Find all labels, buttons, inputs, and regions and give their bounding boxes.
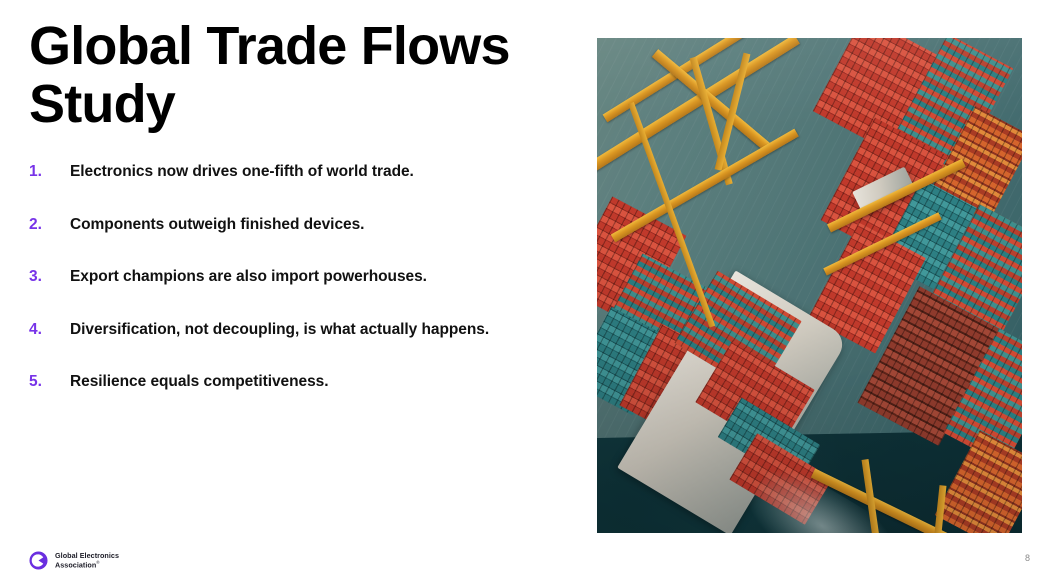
list-item-text: Diversification, not decoupling, is what… [70,318,549,342]
list-item-text: Components outweigh finished devices. [70,213,549,237]
list-item-text: Electronics now drives one-fifth of worl… [70,160,549,184]
list-item: 5. Resilience equals competitiveness. [29,370,549,394]
slide: Global Trade Flows Study 1. Electronics … [0,0,1048,584]
footer-logo: Global ElectronicsAssociation® [29,551,119,570]
container-stack [935,430,1022,533]
list-item-number: 5. [29,370,70,394]
footer-logo-line1: Global Electronics [55,551,119,560]
footer-logo-trademark: ® [96,560,99,565]
list-item: 3. Export champions are also import powe… [29,265,549,289]
page-number: 8 [1025,553,1030,563]
photo-water-base [597,38,1022,533]
list-item: 2. Components outweigh finished devices. [29,213,549,237]
list-item: 4. Diversification, not decoupling, is w… [29,318,549,342]
list-item-text: Resilience equals competitiveness. [70,370,549,394]
list-item-number: 3. [29,265,70,289]
container-port-photo [597,38,1022,533]
footer-logo-text: Global ElectronicsAssociation® [55,551,119,570]
page-title: Global Trade Flows Study [29,18,569,134]
global-electronics-association-logo-icon [29,551,48,570]
list-item-number: 1. [29,160,70,184]
numbered-list: 1. Electronics now drives one-fifth of w… [29,160,549,394]
list-item-number: 2. [29,213,70,237]
footer-logo-line2: Association [55,561,96,570]
list-item-number: 4. [29,318,70,342]
list-item-text: Export champions are also import powerho… [70,265,549,289]
list-item: 1. Electronics now drives one-fifth of w… [29,160,549,184]
